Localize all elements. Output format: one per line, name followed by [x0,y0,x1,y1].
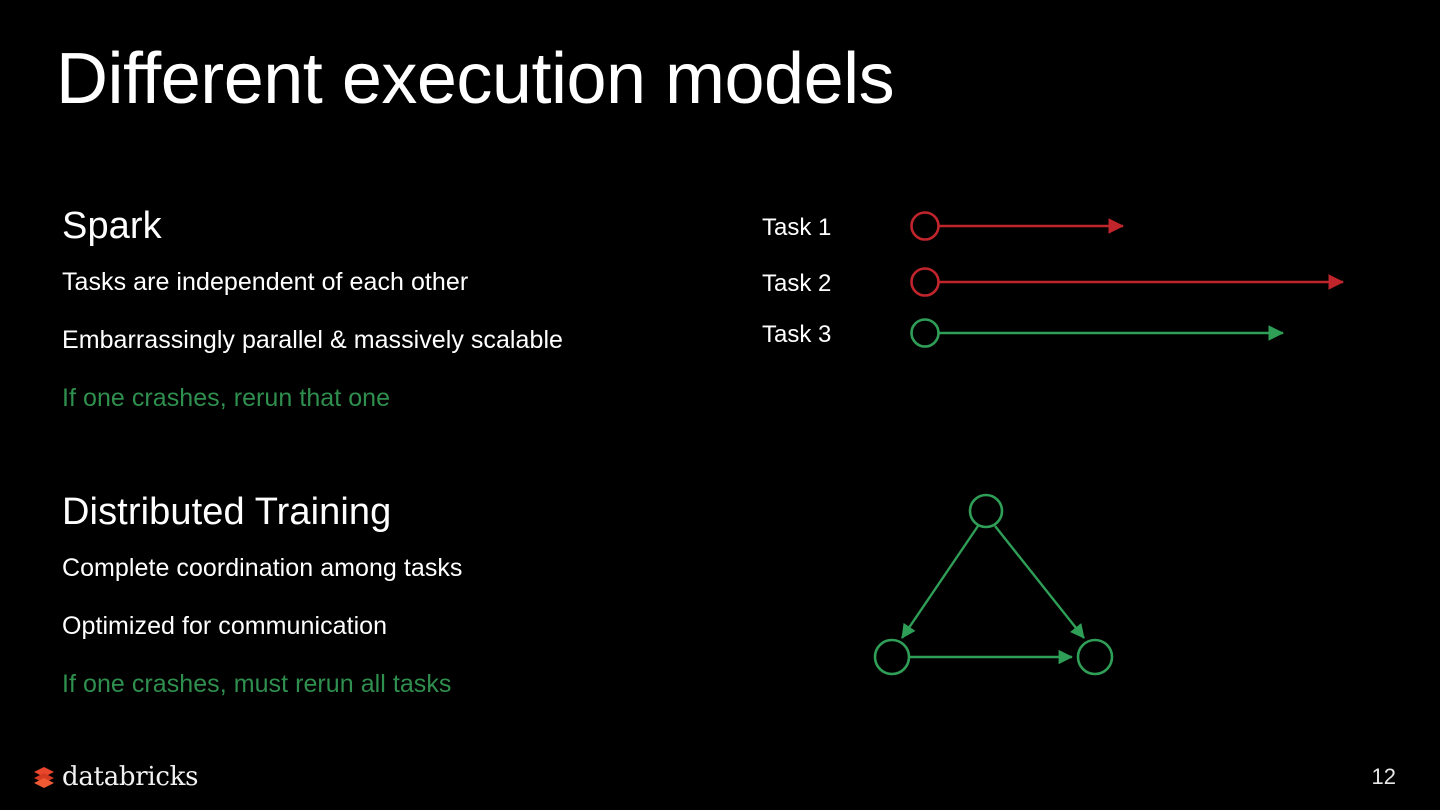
node-top [970,495,1002,527]
triangle-topology-svg [840,478,1160,693]
section-spark: Spark Tasks are independent of each othe… [62,206,682,411]
node-bottom-left [875,640,909,674]
node-bottom-right [1078,640,1112,674]
databricks-layers-icon [33,765,55,789]
task-timelines-svg [750,196,1370,366]
bullet-list-distributed-training: Complete coordination among tasks Optimi… [62,556,682,697]
edge-top-to-bottom-left [902,526,978,638]
page-title: Different execution models [56,42,894,118]
diagram-coordinated-tasks [840,478,1160,693]
task-1-label: Task 1 [762,214,831,242]
bullet-item: Tasks are independent of each other [62,270,682,295]
bullet-item-accent: If one crashes, rerun that one [62,386,682,411]
bullet-item: Optimized for communication [62,614,682,639]
section-heading-spark: Spark [62,206,682,248]
slide-canvas: Different execution models Spark Tasks a… [0,0,1440,810]
bullet-list-spark: Tasks are independent of each other Emba… [62,270,682,411]
task-1-start-node [912,213,939,240]
page-number: 12 [1372,764,1396,790]
section-distributed-training: Distributed Training Complete coordinati… [62,492,682,697]
task-3-label: Task 3 [762,321,831,349]
databricks-wordmark: databricks [62,762,198,792]
task-2-label: Task 2 [762,270,831,298]
task-3-start-node [912,320,939,347]
section-heading-distributed-training: Distributed Training [62,492,682,534]
bullet-item: Embarrassingly parallel & massively scal… [62,328,682,353]
task-2-start-node [912,269,939,296]
task-2-track [912,269,1344,296]
bullet-item-accent: If one crashes, must rerun all tasks [62,672,682,697]
databricks-logo: databricks [33,762,198,792]
task-1-track [912,213,1124,240]
task-3-track [912,320,1284,347]
edge-top-to-bottom-right [995,526,1084,638]
diagram-independent-tasks: Task 1 Task 2 Task 3 [750,196,1370,366]
bullet-item: Complete coordination among tasks [62,556,682,581]
